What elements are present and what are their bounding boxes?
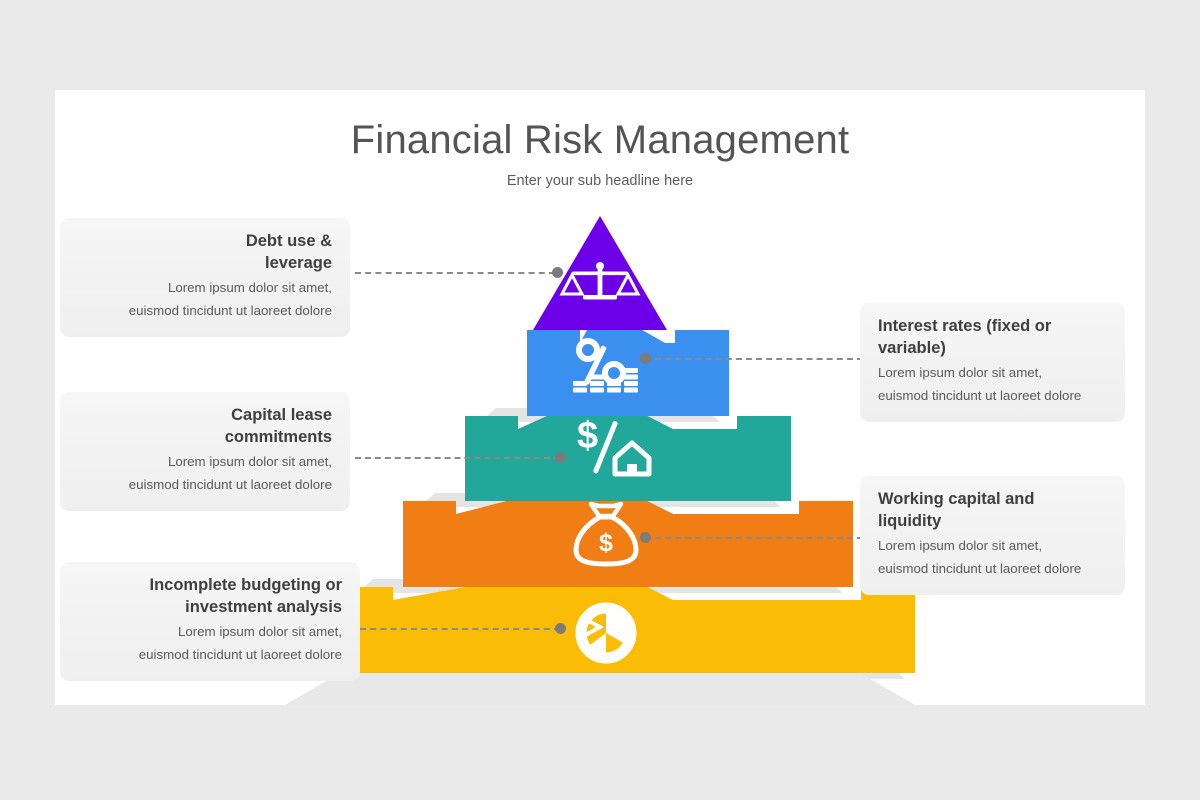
callout-body-line-1: Lorem ipsum dolor sit amet, [878, 362, 1107, 384]
svg-text:$: $ [577, 415, 598, 457]
callout-title-line-2: investment analysis [185, 598, 342, 616]
callout-body-line-1: Lorem ipsum dolor sit amet, [878, 535, 1107, 557]
connector-dot-2 [640, 353, 651, 364]
page-title: Financial Risk Management [55, 118, 1145, 163]
callout-body-line-1: Lorem ipsum dolor sit amet, [78, 451, 332, 473]
callout-title-line-2: leverage [265, 254, 332, 272]
callout-card-capital-lease-commitments[interactable]: Capital lease commitments Lorem ipsum do… [60, 392, 350, 511]
pyramid-tier-middle[interactable] [465, 392, 791, 501]
callout-body-line-1: Lorem ipsum dolor sit amet, [78, 621, 342, 643]
callout-title: Debt use & leverage [78, 231, 332, 275]
pyramid-tier-base[interactable] [340, 563, 915, 673]
callout-body-line-2: euismod tincidunt ut laoreet dolore [78, 300, 332, 322]
callout-body-line-2: euismod tincidunt ut laoreet dolore [78, 474, 332, 496]
connector-line-4 [645, 537, 863, 541]
percent-coins-icon [573, 341, 638, 393]
pyramid-tier-fourth[interactable] [403, 477, 853, 587]
connector-line-3 [355, 457, 560, 461]
callout-body-line-2: euismod tincidunt ut laoreet dolore [878, 385, 1107, 407]
tier-shadow-5 [295, 665, 905, 679]
callout-title-line-1: Incomplete budgeting or [150, 576, 343, 594]
callout-card-working-capital[interactable]: Working capital and liquidity Lorem ipsu… [860, 476, 1125, 595]
callout-card-debt-use-leverage[interactable]: Debt use & leverage Lorem ipsum dolor si… [60, 218, 350, 337]
callout-body-line-1: Lorem ipsum dolor sit amet, [78, 277, 332, 299]
balance-scale-icon [562, 262, 638, 300]
svg-text:$: $ [599, 529, 613, 557]
connector-dot-5 [555, 623, 566, 634]
page-subtitle: Enter your sub headline here [55, 173, 1145, 189]
callout-title-line-2: commitments [225, 428, 332, 446]
connector-dot-3 [555, 452, 566, 463]
callout-card-incomplete-budgeting[interactable]: Incomplete budgeting or investment analy… [60, 562, 360, 681]
connector-line-2 [645, 358, 863, 362]
connector-line-5 [360, 628, 560, 632]
callout-title-line-1: Interest rates (fixed or [878, 317, 1051, 335]
tier-shadow-3 [419, 493, 781, 507]
callout-title-line-1: Capital lease [231, 406, 332, 424]
slide-canvas: Financial Risk Management Enter your sub… [55, 90, 1145, 705]
money-bag-icon: $ [576, 504, 636, 564]
callout-body-line-2: euismod tincidunt ut laoreet dolore [78, 644, 342, 666]
callout-title-line-1: Working capital and [878, 490, 1034, 508]
callout-title-line-2: liquidity [878, 512, 941, 530]
connector-line-1 [355, 272, 555, 276]
callout-title-line-1: Debt use & [246, 232, 332, 250]
pie-chart-icon [580, 608, 631, 658]
callout-title: Incomplete budgeting or investment analy… [78, 575, 342, 619]
callout-title: Capital lease commitments [78, 405, 332, 449]
connector-dot-4 [640, 532, 651, 543]
connector-dot-1 [552, 267, 563, 278]
tier-shadow-2 [480, 408, 720, 422]
callout-title-line-2: variable) [878, 339, 946, 357]
callout-body-line-2: euismod tincidunt ut laoreet dolore [878, 558, 1107, 580]
tier-shadow-4 [357, 579, 843, 593]
callout-card-interest-rates[interactable]: Interest rates (fixed or variable) Lorem… [860, 303, 1125, 422]
pyramid-base-shadow [285, 673, 915, 705]
dollar-house-icon: $ [577, 415, 649, 474]
callout-title: Interest rates (fixed or variable) [878, 316, 1107, 360]
callout-title: Working capital and liquidity [878, 489, 1107, 533]
